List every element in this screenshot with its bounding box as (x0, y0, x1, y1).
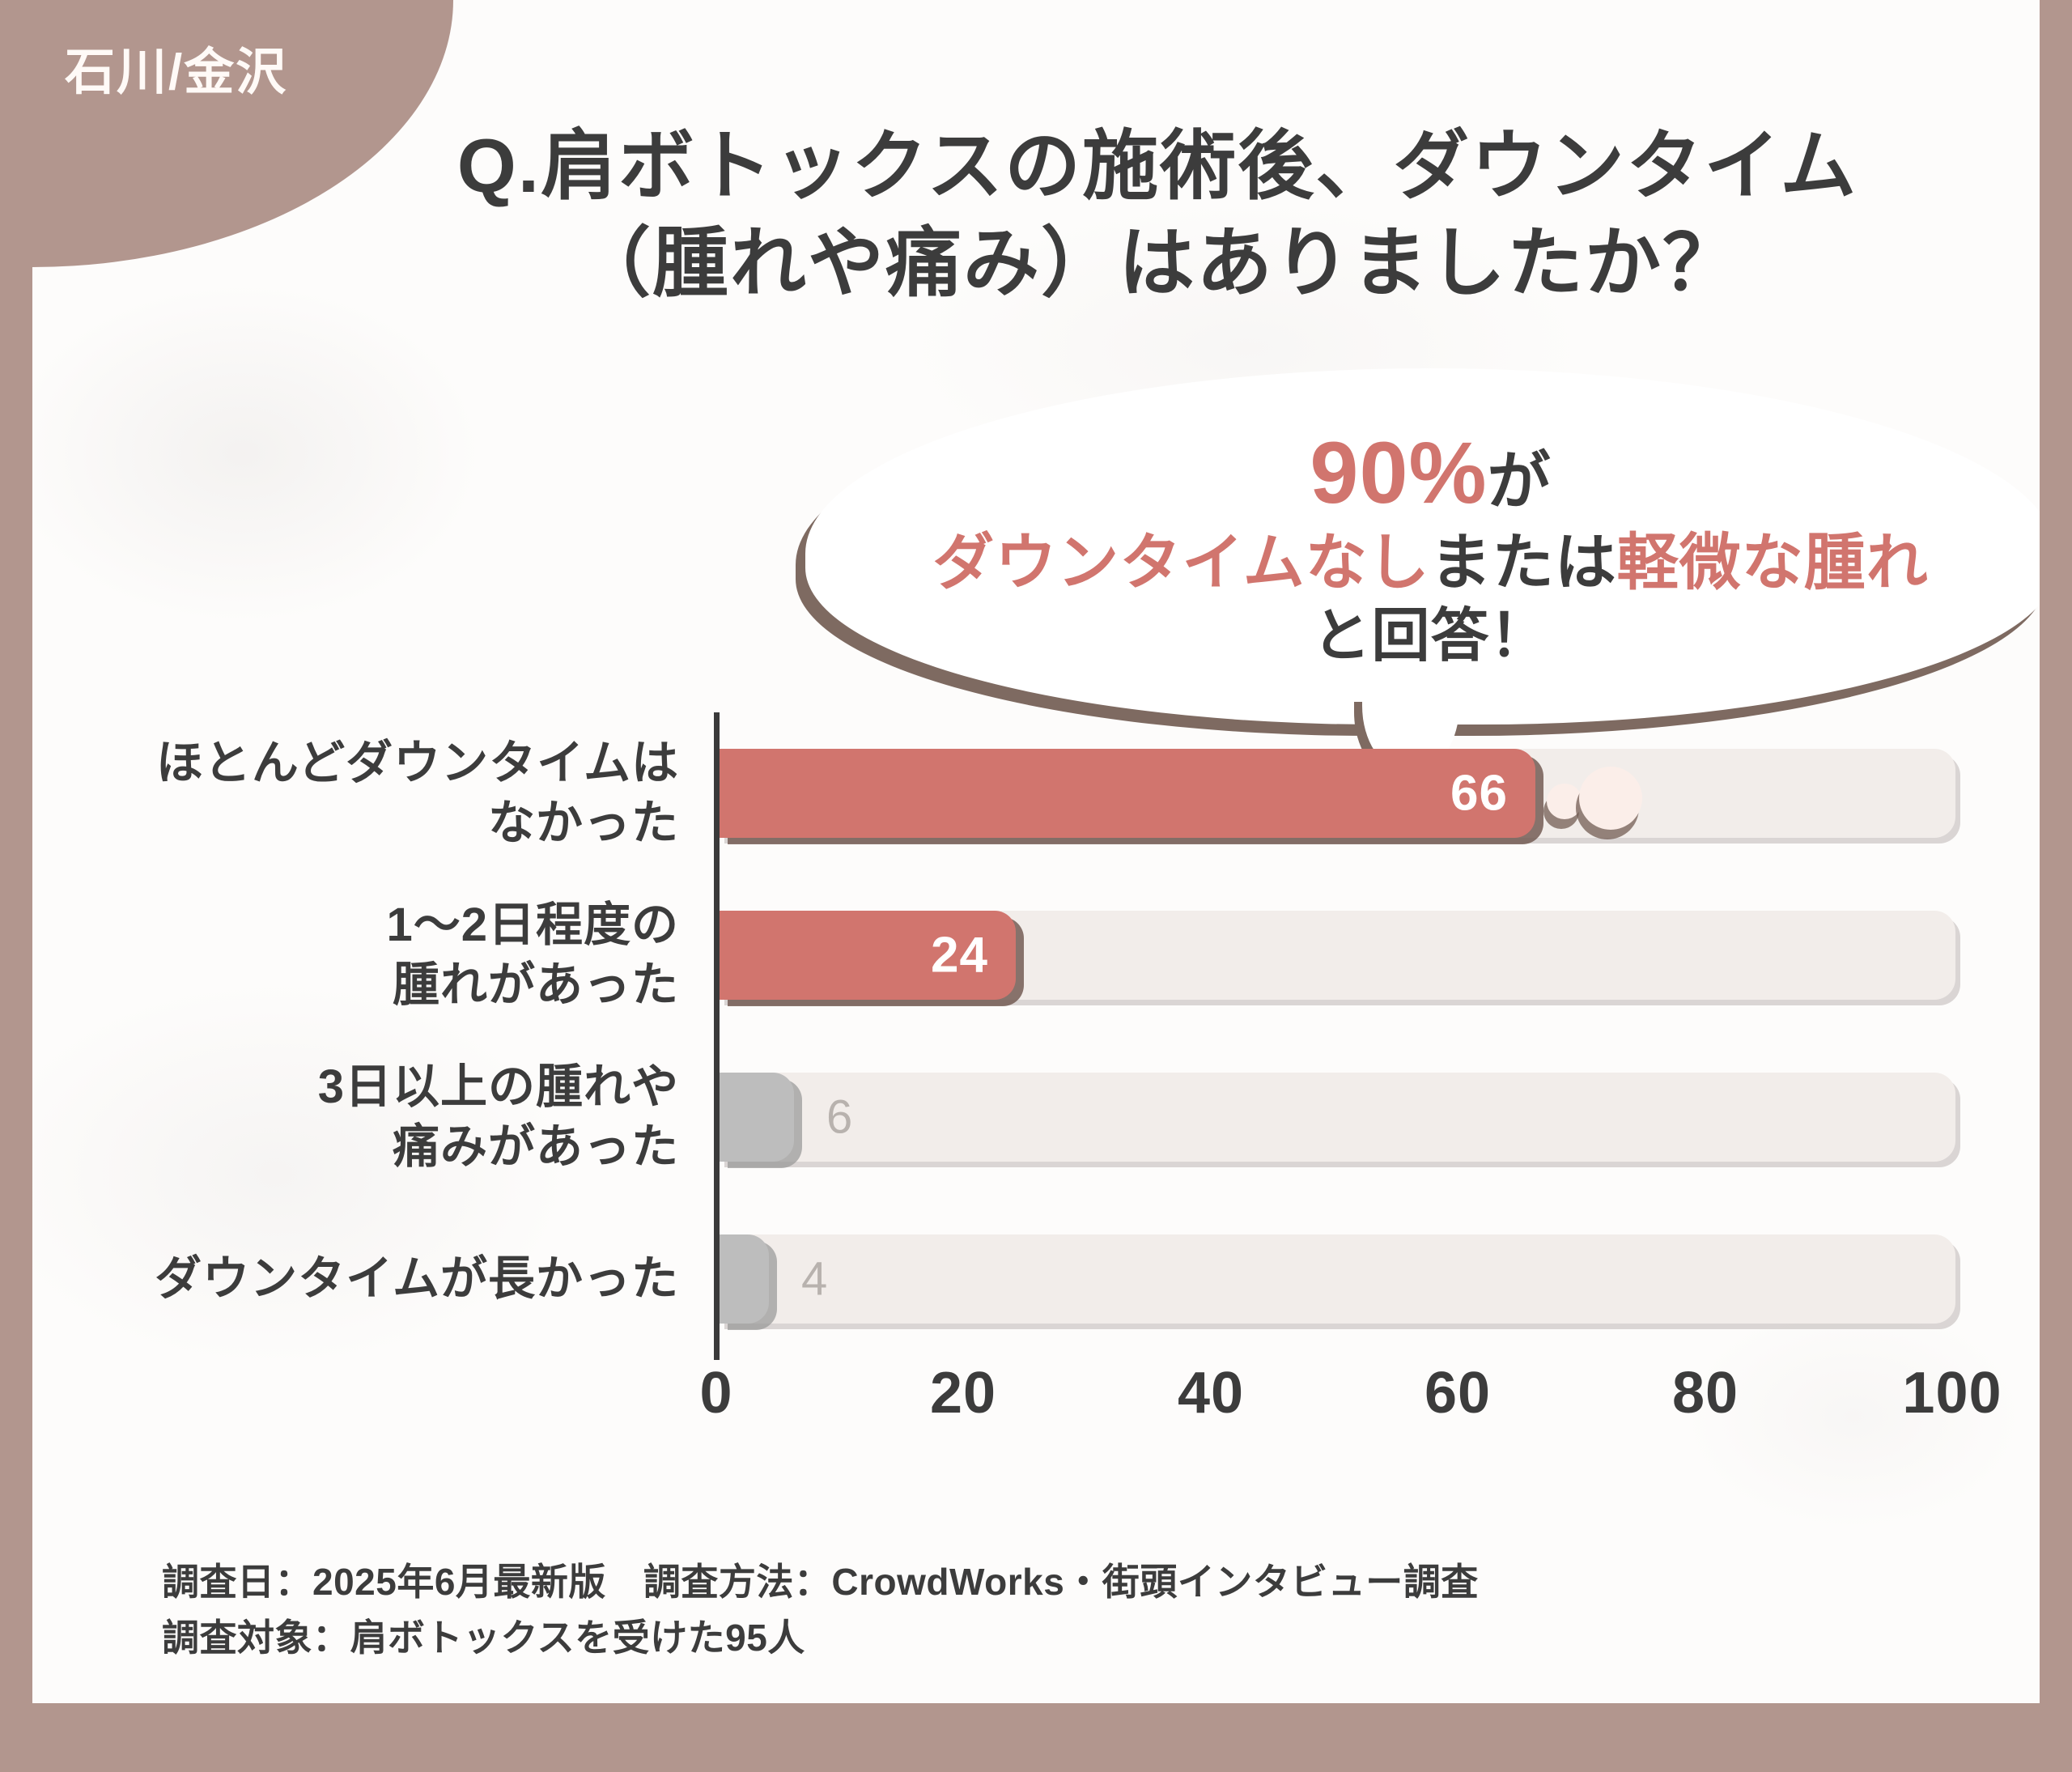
bar-category-label: 3日以上の腫れや痛みがあった (85, 1036, 700, 1198)
bar-category-line: ダウンタイムが長かった (155, 1249, 679, 1309)
bar-chart: ほとんどダウンタイムはなかった661〜2日程度の腫れがあった243日以上の腫れや… (32, 712, 2040, 1441)
bar-value-label: 24 (931, 927, 988, 984)
bar-category-label: ダウンタイムが長かった (85, 1198, 700, 1360)
callout-line-2: ダウンタイムなしまたは軽微な腫れ (932, 528, 1928, 598)
bar-category-line: 1〜2日程度の (386, 895, 679, 955)
bar-value-label: 6 (826, 1090, 853, 1145)
survey-meta: 調査日：2025年6月最新版調査方法：CrowdWorks・街頭インタビュー調査… (162, 1554, 1942, 1666)
survey-method: 調査方法：CrowdWorks・街頭インタビュー調査 (643, 1561, 1479, 1603)
bar-category-line: ほとんどダウンタイムは (156, 733, 679, 793)
x-axis-tick-label: 60 (1424, 1360, 1491, 1426)
x-axis-ticks: 020406080100 (32, 1360, 2040, 1449)
survey-date: 調査日：2025年6月最新版 (162, 1561, 606, 1603)
bar-category-line: 3日以上の腫れや (318, 1057, 679, 1117)
bar-fill (720, 1234, 769, 1324)
callout-text: 90%が ダウンタイムなしまたは軽微な腫れ と回答！ (805, 368, 2040, 725)
callout-conj: または (1430, 529, 1617, 597)
callout-percent-suffix: が (1488, 445, 1552, 516)
bar-row: ほとんどダウンタイムはなかった66 (32, 712, 2040, 874)
x-axis-tick-label: 0 (699, 1360, 732, 1426)
region-badge-label: 石川/金沢 (65, 31, 287, 104)
bar-row: 3日以上の腫れや痛みがあった6 (32, 1036, 2040, 1198)
callout-bubble: 90%が ダウンタイムなしまたは軽微な腫れ と回答！ (805, 368, 2040, 749)
callout-line-3: と回答！ (1312, 603, 1548, 670)
bar-category-label: 1〜2日程度の腫れがあった (85, 874, 700, 1036)
bar-row: 1〜2日程度の腫れがあった24 (32, 874, 2040, 1036)
x-axis-tick-label: 40 (1178, 1360, 1244, 1426)
bar-fill (720, 1073, 794, 1162)
bar-category-line: なかった (488, 793, 679, 853)
content-card: 石川/金沢 Q.肩ボトックスの施術後、ダウンタイム （腫れや痛み）はありましたか… (32, 0, 2040, 1703)
callout-highlight-b: 軽微な腫れ (1617, 529, 1929, 597)
bar-row: ダウンタイムが長かった4 (32, 1198, 2040, 1360)
callout-highlight-a: ダウンタイムなし (932, 529, 1429, 597)
x-axis-tick-label: 100 (1902, 1360, 2002, 1426)
bar-fill: 24 (720, 911, 1016, 1000)
survey-target: 調査対象：肩ボトックスを受けた95人 (162, 1610, 1942, 1666)
title-line-2: （腫れや痛み）はありましたか？ (275, 215, 2040, 312)
bar-category-label: ほとんどダウンタイムはなかった (85, 712, 700, 874)
bar-value-label: 66 (1450, 765, 1508, 822)
bar-value-label: 4 (801, 1252, 828, 1307)
x-axis-tick-label: 20 (930, 1360, 996, 1426)
bar-rows: ほとんどダウンタイムはなかった661〜2日程度の腫れがあった243日以上の腫れや… (32, 712, 2040, 1360)
decorative-dot (1579, 767, 1642, 830)
callout-percent: 90% (1310, 423, 1487, 521)
bar-category-line: 痛みがあった (393, 1117, 679, 1177)
bar-track (720, 1073, 1955, 1162)
bar-fill: 66 (720, 749, 1535, 838)
bar-category-line: 腫れがあった (393, 955, 679, 1015)
title-line-1: Q.肩ボトックスの施術後、ダウンタイム (457, 123, 1858, 208)
callout-line-1: 90%が (1310, 423, 1551, 523)
page-title: Q.肩ボトックスの施術後、ダウンタイム （腫れや痛み）はありましたか？ (275, 117, 2040, 312)
infographic-root: 石川/金沢 Q.肩ボトックスの施術後、ダウンタイム （腫れや痛み）はありましたか… (0, 0, 2072, 1772)
bar-track (720, 1234, 1955, 1324)
x-axis-tick-label: 80 (1672, 1360, 1739, 1426)
